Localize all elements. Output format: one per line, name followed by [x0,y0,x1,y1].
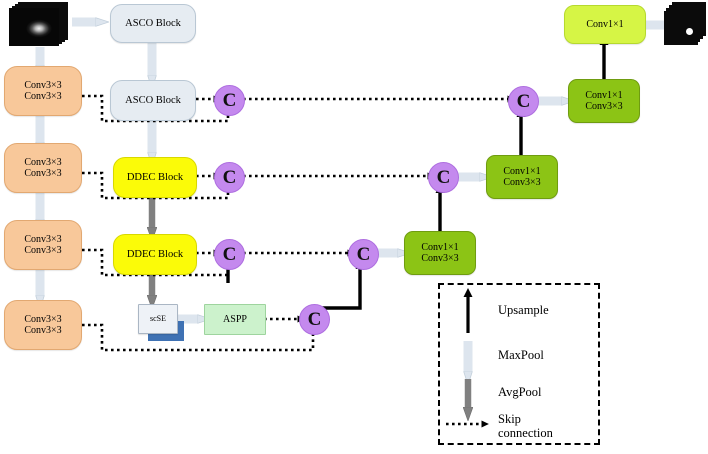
conv2-line1: Conv3×3 [24,157,61,168]
concat-node-ddec1[interactable]: C [214,162,245,193]
concat-top-label: C [517,91,531,113]
ddec1-label: DDEC Block [127,172,183,184]
concat-node-mid2[interactable]: C [428,162,459,193]
aspp-label: ASPP [223,314,247,325]
concat-asco2-label: C [223,90,237,112]
dec-top-line1: Conv1×1 [585,90,622,101]
block-decoder-top[interactable]: Conv1×1 Conv3×3 [568,79,640,123]
dec-bottom-line2: Conv3×3 [421,253,458,264]
concat-node-asco2[interactable]: C [214,85,245,116]
block-ddec-1[interactable]: DDEC Block [113,157,197,198]
block-aspp[interactable]: ASPP [204,304,266,335]
concat-ddec1-label: C [223,167,237,189]
conv1-line1: Conv3×3 [24,80,61,91]
block-conv3x3-1[interactable]: Conv3×3 Conv3×3 [4,66,82,116]
skip-conv4-to-caspp [82,325,313,350]
dec-mid-line2: Conv3×3 [503,177,540,188]
input-image-stack [8,2,72,48]
block-asco-1[interactable]: ASCO Block [110,4,196,43]
block-conv3x3-4[interactable]: Conv3×3 Conv3×3 [4,300,82,350]
block-conv3x3-2[interactable]: Conv3×3 Conv3×3 [4,143,82,193]
asco1-label: ASCO Block [125,18,181,30]
conv1-line2: Conv3×3 [24,91,61,102]
dec-bottom-line1: Conv1×1 [421,242,458,253]
conv4-line2: Conv3×3 [24,325,61,336]
arrow-caspp-to-cmid [313,268,360,308]
concat-node-aspp[interactable]: C [299,304,330,335]
block-head-conv1x1[interactable]: Conv1×1 [564,5,646,44]
ddec2-label: DDEC Block [127,249,183,261]
asco2-label: ASCO Block [125,95,181,107]
conv2-line2: Conv3×3 [24,168,61,179]
mask-lesion-dot [686,28,693,35]
concat-node-mid[interactable]: C [348,239,379,270]
block-decoder-bottom[interactable]: Conv1×1 Conv3×3 [404,231,476,275]
conv4-line1: Conv3×3 [24,314,61,325]
concat-ddec2-label: C [223,244,237,266]
dec-top-line2: Conv3×3 [585,101,622,112]
concat-aspp-label: C [308,309,322,331]
block-conv3x3-3[interactable]: Conv3×3 Conv3×3 [4,220,82,270]
concat-node-ddec2[interactable]: C [214,239,245,270]
output-mask-stack [664,2,708,48]
conv3-line2: Conv3×3 [24,245,61,256]
scse-label: scSE [150,315,166,324]
conv3-line1: Conv3×3 [24,234,61,245]
concat-mid2-label: C [437,167,451,189]
block-decoder-mid[interactable]: Conv1×1 Conv3×3 [486,155,558,199]
concat-mid-label: C [357,244,371,266]
architecture-diagram: Conv3×3 Conv3×3 Conv3×3 Conv3×3 Conv3×3 … [0,0,708,454]
concat-node-top[interactable]: C [508,86,539,117]
block-ddec-2[interactable]: DDEC Block [113,234,197,275]
head-label: Conv1×1 [586,19,623,30]
block-scse[interactable]: scSE [138,304,178,334]
connector-layer [0,0,708,454]
legend-box [438,283,600,445]
dec-mid-line1: Conv1×1 [503,166,540,177]
block-asco-2[interactable]: ASCO Block [110,80,196,121]
